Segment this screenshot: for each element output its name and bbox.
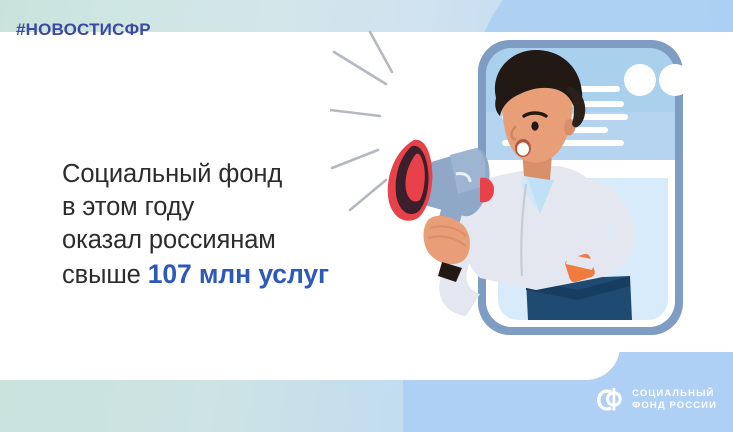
headline-line-1: Социальный фонд [62,158,329,191]
headline-prefix: свыше [62,261,148,289]
poster-canvas: #НОВОСТИСФР Социальный фонд в этом году … [0,0,733,432]
logo-line-2: ФОНД РОССИИ [632,400,717,412]
sfr-monogram-icon [594,385,624,415]
sound-rays [330,32,392,210]
figure-teeth [517,142,529,155]
logo: СОЦИАЛЬНЫЙ ФОНД РОССИИ [594,385,717,415]
headline-text: Социальный фонд в этом году оказал росси… [62,158,329,293]
headline-line-4: свыше 107 млн услуг [62,257,329,292]
screen-avatar-2 [659,64,691,96]
figure-eye [531,121,538,130]
headline-line-2: в этом году [62,191,329,224]
headline-highlight: 107 млн услуг [148,259,329,289]
screen-avatar-1 [624,64,656,96]
hashtag-label: #НОВОСТИСФР [16,20,151,40]
illustration-man-with-megaphone [330,28,733,388]
logo-wordmark: СОЦИАЛЬНЫЙ ФОНД РОССИИ [632,388,717,412]
headline-line-3: оказал россиянам [62,224,329,257]
logo-line-1: СОЦИАЛЬНЫЙ [632,388,717,400]
